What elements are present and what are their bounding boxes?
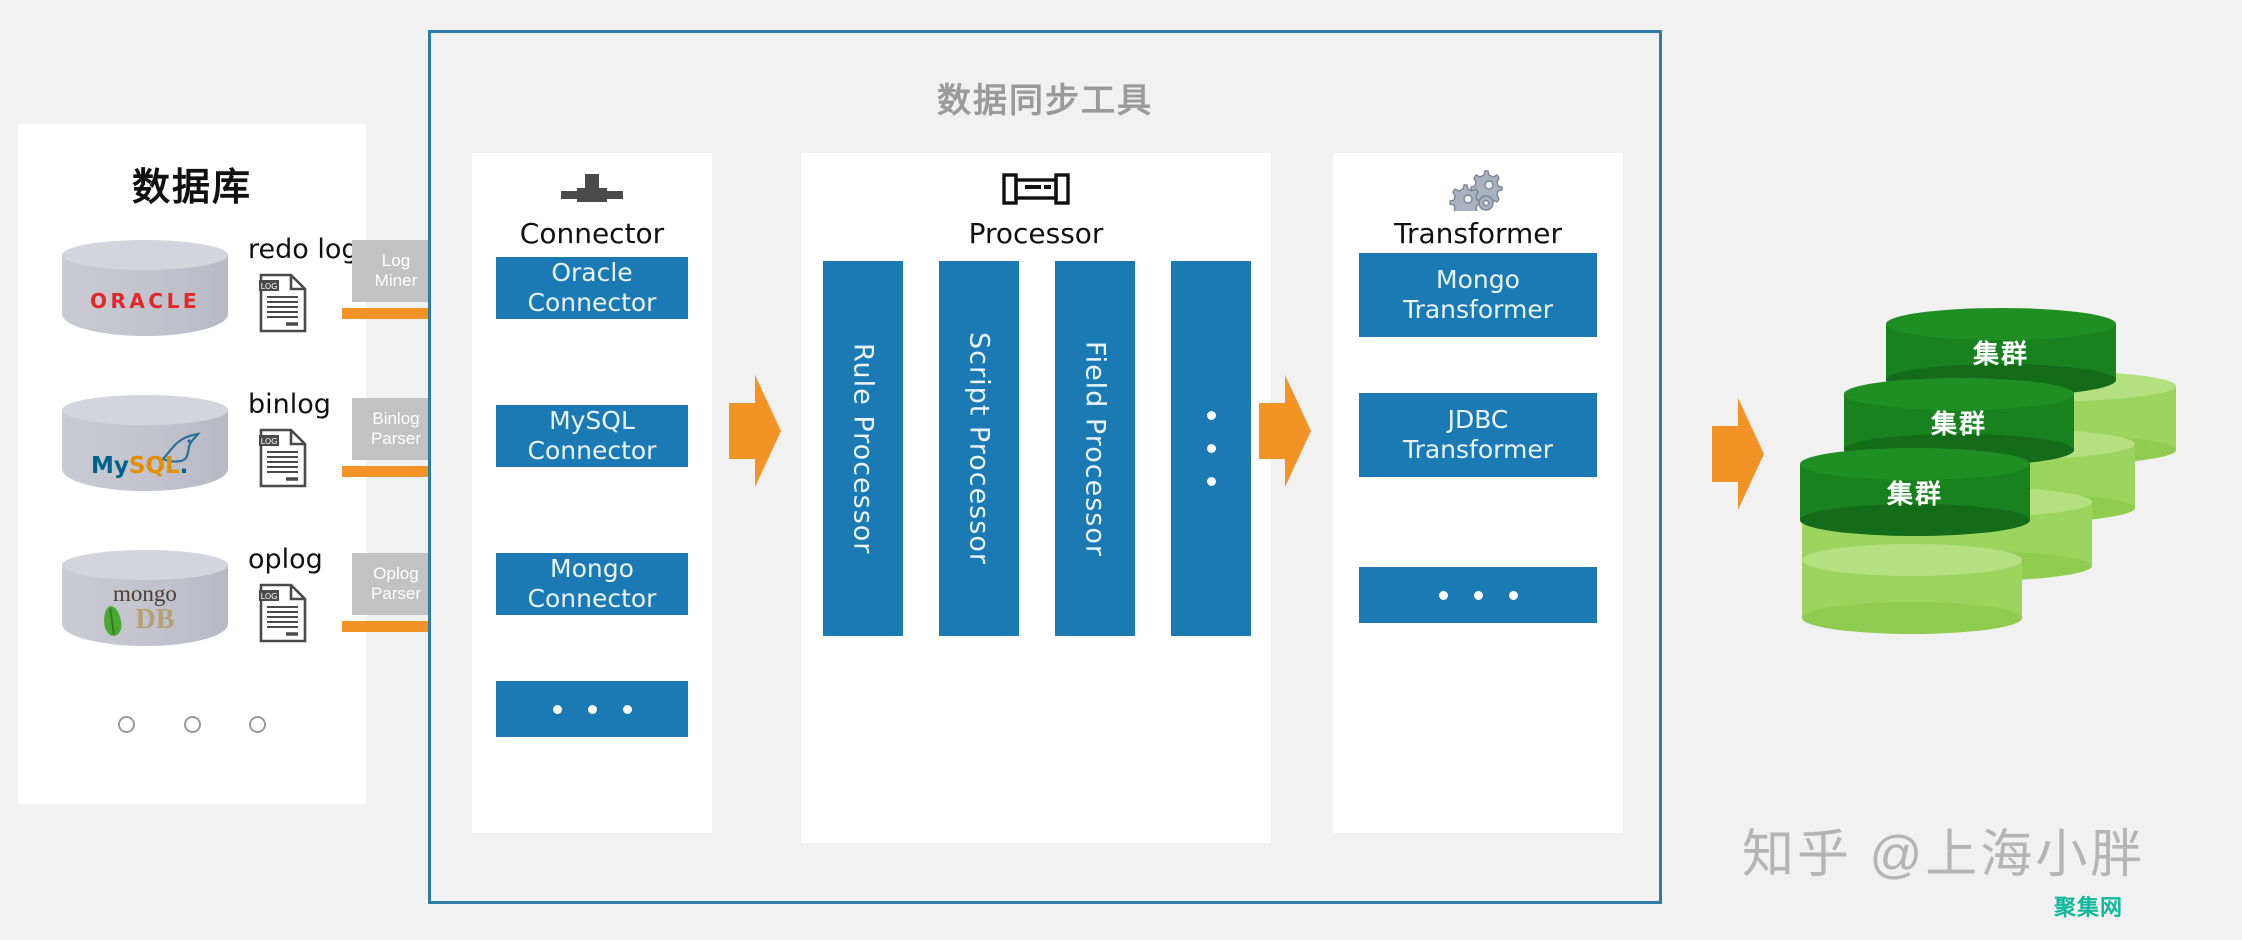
dot xyxy=(1474,591,1483,600)
item-line-2: Connector xyxy=(528,584,657,614)
log-label-binlog: binlog xyxy=(248,389,331,420)
watermark-secondary: 聚集网 xyxy=(2054,890,2123,922)
transformer-more-box[interactable] xyxy=(1359,567,1597,623)
column-header-processor: Processor xyxy=(801,153,1271,250)
processor-chip-icon xyxy=(801,163,1271,215)
item-line-2: Connector xyxy=(528,436,657,466)
dot xyxy=(184,716,201,733)
log-label-oplog: oplog xyxy=(248,544,323,575)
parser-line-2: Parser xyxy=(371,584,421,604)
column-processor: Processor Rule Processor Script Processo… xyxy=(801,153,1271,843)
more-dots xyxy=(1207,411,1216,486)
mysql-logo: MySQL. xyxy=(62,425,228,487)
database-panel: 数据库 ORACLE redo log LOG xyxy=(18,124,366,804)
item-line-1: Oracle xyxy=(528,258,657,288)
more-dots xyxy=(553,705,632,714)
gears-icon xyxy=(1333,163,1623,215)
watermark-primary: 知乎 @上海小胖 xyxy=(1742,812,2145,887)
parser-badge-binlog-parser[interactable]: Binlog Parser xyxy=(352,398,440,460)
diagram-canvas: 数据库 ORACLE redo log LOG xyxy=(0,0,2242,940)
flow-arrow-tool-to-cluster xyxy=(1712,398,1764,510)
column-name-connector: Connector xyxy=(472,217,712,250)
database-row-oracle: ORACLE redo log LOG xyxy=(62,234,362,359)
log-document-icon: LOG xyxy=(258,582,308,649)
processor-item-script[interactable]: Script Processor xyxy=(939,261,1019,636)
database-row-mongodb: mongo DB oplog LOG xyxy=(62,544,362,669)
cluster-stack: 集群 集群 集群 xyxy=(1790,300,2210,620)
svg-text:LOG: LOG xyxy=(261,437,278,446)
database-more-indicator xyxy=(18,716,366,738)
cluster-label: 集群 xyxy=(1800,448,2030,536)
cluster-node-1[interactable]: 集群 xyxy=(1800,448,2030,536)
item-label: Script Processor xyxy=(964,332,995,565)
dot xyxy=(588,705,597,714)
dot xyxy=(553,705,562,714)
database-row-mysql: MySQL. binlog LOG xyxy=(62,389,362,514)
data-sync-tool-frame: 数据同步工具 Connector Oracle Connector xyxy=(428,30,1662,904)
dot xyxy=(623,705,632,714)
log-document-icon: LOG xyxy=(258,427,308,494)
svg-text:LOG: LOG xyxy=(261,592,278,601)
cylinder-top xyxy=(1802,544,2022,576)
connector-tee-icon xyxy=(472,163,712,215)
dot xyxy=(1207,477,1216,486)
connector-item-oracle[interactable]: Oracle Connector xyxy=(496,257,688,319)
item-line-1: Mongo xyxy=(528,554,657,584)
dot xyxy=(1439,591,1448,600)
oracle-cylinder: ORACLE xyxy=(62,240,228,348)
more-dots xyxy=(1439,591,1518,600)
connector-item-mongo[interactable]: Mongo Connector xyxy=(496,553,688,615)
mysql-cylinder: MySQL. xyxy=(62,395,228,503)
cluster-light-layer-0 xyxy=(1802,544,2022,634)
svg-text:LOG: LOG xyxy=(261,282,278,291)
log-label-redo: redo log xyxy=(248,234,359,265)
column-transformer: Transformer Mongo Transformer JDBC Trans… xyxy=(1333,153,1623,833)
parser-line-1: Oplog xyxy=(371,564,421,584)
parser-line-1: Binlog xyxy=(371,409,421,429)
dot xyxy=(249,716,266,733)
column-name-processor: Processor xyxy=(801,217,1271,250)
cylinder-top xyxy=(62,240,228,270)
item-line-1: Mongo xyxy=(1403,265,1553,295)
dot xyxy=(1207,411,1216,420)
item-line-1: JDBC xyxy=(1403,405,1553,435)
flow-arrow-connector-to-processor xyxy=(729,375,781,487)
item-label: Rule Processor xyxy=(848,343,879,554)
processor-item-field[interactable]: Field Processor xyxy=(1055,261,1135,636)
processor-more-box[interactable] xyxy=(1171,261,1251,636)
dot xyxy=(1509,591,1518,600)
connector-item-mysql[interactable]: MySQL Connector xyxy=(496,405,688,467)
mongodb-logo: mongo DB xyxy=(62,580,228,642)
item-line-1: MySQL xyxy=(528,406,657,436)
parser-line-1: Log xyxy=(375,251,418,271)
cylinder-bottom xyxy=(1802,602,2022,634)
column-name-transformer: Transformer xyxy=(1333,217,1623,250)
parser-badge-oplog-parser[interactable]: Oplog Parser xyxy=(352,553,440,615)
parser-line-2: Miner xyxy=(375,271,418,291)
transformer-item-jdbc[interactable]: JDBC Transformer xyxy=(1359,393,1597,477)
flow-arrow-processor-to-transformer xyxy=(1259,375,1311,487)
mongodb-cylinder: mongo DB xyxy=(62,550,228,658)
item-line-2: Transformer xyxy=(1403,435,1553,465)
column-connector: Connector Oracle Connector MySQL Connect… xyxy=(472,153,712,833)
log-document-icon: LOG xyxy=(258,272,308,339)
connector-more-box[interactable] xyxy=(496,681,688,737)
tool-title: 数据同步工具 xyxy=(431,73,1659,122)
item-line-2: Transformer xyxy=(1403,295,1553,325)
transformer-item-mongo[interactable]: Mongo Transformer xyxy=(1359,253,1597,337)
cylinder-top xyxy=(62,550,228,580)
processor-item-rule[interactable]: Rule Processor xyxy=(823,261,903,636)
dot xyxy=(1207,444,1216,453)
item-line-2: Connector xyxy=(528,288,657,318)
oracle-logo: ORACLE xyxy=(62,270,228,332)
column-header-connector: Connector xyxy=(472,153,712,250)
column-header-transformer: Transformer xyxy=(1333,153,1623,250)
parser-badge-log-miner[interactable]: Log Miner xyxy=(352,240,440,302)
dot xyxy=(118,716,135,733)
item-label: Field Processor xyxy=(1080,341,1111,557)
parser-line-2: Parser xyxy=(371,429,421,449)
cylinder-top xyxy=(62,395,228,425)
database-panel-title: 数据库 xyxy=(18,156,366,211)
